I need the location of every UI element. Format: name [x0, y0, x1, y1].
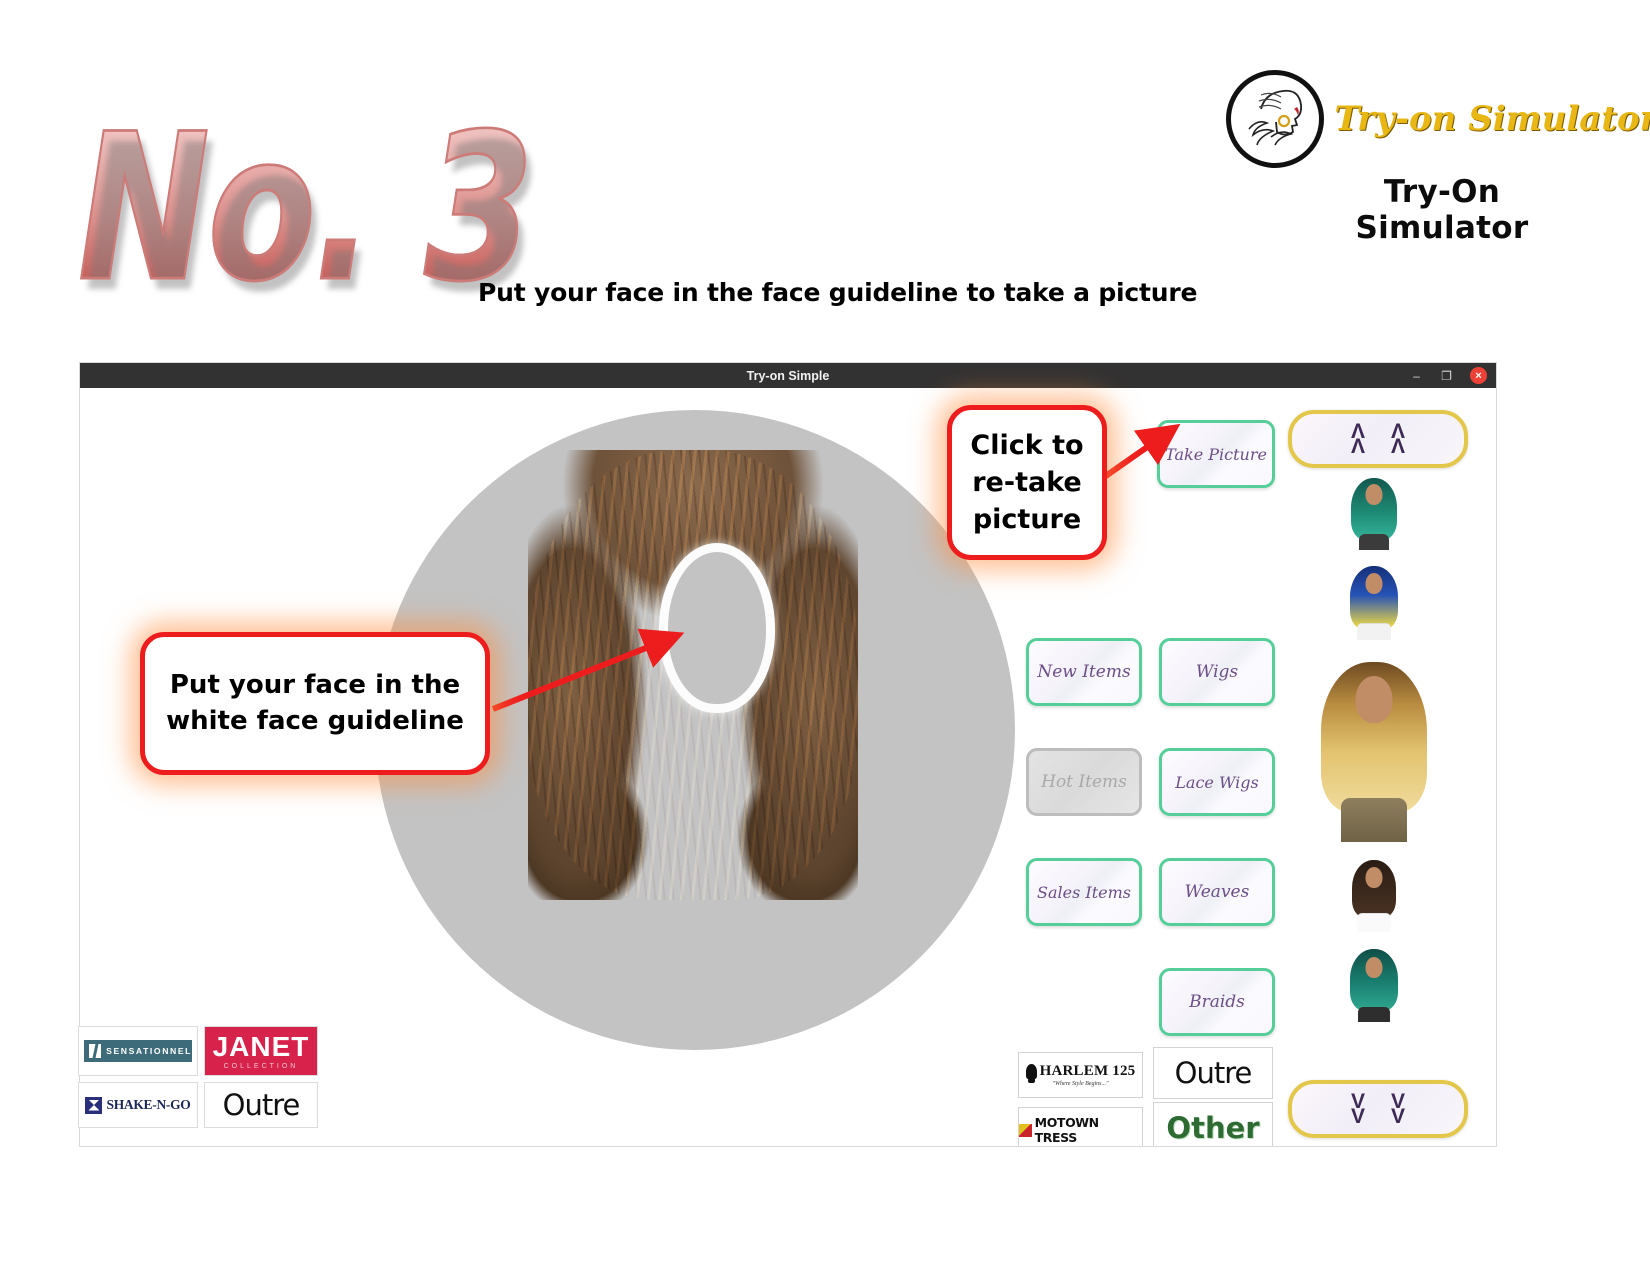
take-picture-button[interactable]: Take Picture — [1157, 420, 1275, 488]
retake-picture-callout: Click to re-take picture — [947, 405, 1107, 560]
brand-subtitle: Try-On Simulator — [1292, 174, 1592, 246]
maximize-icon[interactable]: ❐ — [1440, 370, 1453, 382]
harlem-tagline: "Where Style Begins..." — [1053, 1081, 1109, 1087]
brand-tile-outre[interactable]: Outre — [1153, 1047, 1273, 1099]
scroll-up-double-chevron-icon: ΛΛ — [1351, 424, 1365, 454]
woman-profile-logo-icon — [1226, 70, 1324, 168]
thumbnail-item[interactable] — [1341, 854, 1407, 932]
outre-name: Outre — [1175, 1056, 1252, 1090]
scroll-down-button[interactable]: VV VV — [1288, 1080, 1468, 1138]
window-title: Try-on Simple — [747, 369, 830, 383]
partner-logo-janet-collection: JANET COLLECTION — [204, 1026, 318, 1076]
brand-tile-harlem125[interactable]: HARLEM 125 "Where Style Begins..." — [1018, 1052, 1143, 1098]
brand-tile-other[interactable]: Other — [1153, 1102, 1273, 1146]
outre-partner-name: Outre — [223, 1088, 300, 1122]
face-guideline-callout: Put your face in the white face guidelin… — [140, 632, 490, 775]
category-new-items[interactable]: New Items — [1026, 638, 1142, 706]
thumbnail-item[interactable] — [1341, 562, 1407, 640]
category-wigs[interactable]: Wigs — [1159, 638, 1275, 706]
shake-n-go-name: SHAKE-N-GO — [106, 1097, 190, 1113]
window-controls: – ❐ × — [1410, 367, 1487, 384]
minimize-icon[interactable]: – — [1410, 370, 1423, 382]
wig-overlay — [528, 450, 858, 900]
motown-name: MOTOWN TRESS — [1035, 1115, 1142, 1145]
scroll-up-double-chevron-icon-2: ΛΛ — [1391, 424, 1405, 454]
category-hot-items: Hot Items — [1026, 748, 1142, 816]
partner-logo-grid: SENSATIONNEL JANET COLLECTION SHAKE-N-GO… — [78, 1026, 318, 1134]
thumbnail-item[interactable] — [1341, 472, 1407, 550]
thumbnail-item[interactable] — [1341, 944, 1407, 1022]
window-titlebar: Try-on Simple – ❐ × — [80, 363, 1496, 388]
thumbnail-list — [1288, 472, 1460, 1022]
slide-instruction: Put your face in the face guideline to t… — [478, 278, 1197, 307]
partner-logo-sensationnel: SENSATIONNEL — [78, 1026, 198, 1076]
shake-n-go-mark-icon — [85, 1097, 102, 1114]
harlem-bird-icon — [1026, 1064, 1037, 1079]
category-lace-wigs[interactable]: Lace Wigs — [1159, 748, 1275, 816]
scroll-down-double-chevron-icon-2: VV — [1391, 1094, 1405, 1124]
white-face-guideline — [659, 543, 775, 713]
slide-number: No. 3 — [78, 108, 532, 311]
close-icon[interactable]: × — [1470, 367, 1487, 384]
category-weaves[interactable]: Weaves — [1159, 858, 1275, 926]
thumbnail-strip: ΛΛ ΛΛ — [1288, 410, 1460, 1138]
janet-name: JANET — [213, 1033, 310, 1061]
category-sales-items[interactable]: Sales Items — [1026, 858, 1142, 926]
thumbnail-item-selected[interactable] — [1300, 652, 1448, 842]
scroll-down-double-chevron-icon: VV — [1351, 1094, 1365, 1124]
partner-logo-outre: Outre — [204, 1082, 318, 1128]
brand-wordmark: Try-on Simulator — [1334, 99, 1650, 139]
scroll-up-button[interactable]: ΛΛ ΛΛ — [1288, 410, 1468, 468]
brand-tile-motown-tress[interactable]: MOTOWN TRESS — [1018, 1107, 1143, 1146]
harlem-name: HARLEM 125 — [1040, 1064, 1136, 1079]
sensationnel-name: SENSATIONNEL — [106, 1046, 192, 1056]
brand-lockup: Try-on Simulator Try-On Simulator — [1292, 70, 1592, 246]
other-name: Other — [1166, 1111, 1259, 1145]
sensationnel-mark-icon — [89, 1044, 101, 1058]
janet-subtitle: COLLECTION — [224, 1063, 299, 1070]
category-braids[interactable]: Braids — [1159, 968, 1275, 1036]
motown-mark-icon — [1019, 1124, 1032, 1137]
partner-logo-shake-n-go: SHAKE-N-GO — [78, 1082, 198, 1128]
